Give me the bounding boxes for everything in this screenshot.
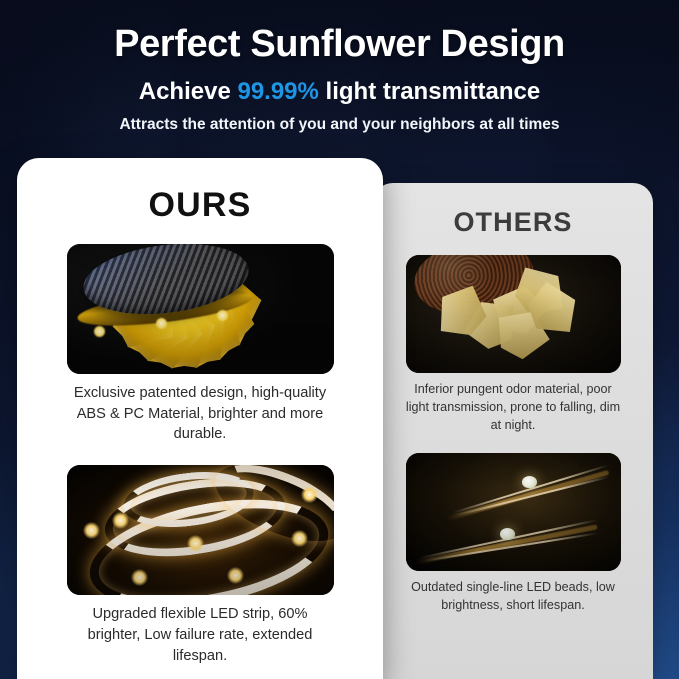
- ours-item-2: Upgraded flexible LED strip, 60% brighte…: [67, 465, 334, 666]
- led-strip-artwork: [67, 465, 334, 595]
- led-beads-artwork: [406, 453, 621, 571]
- transmittance-value: 99.99%: [237, 78, 318, 105]
- lamp-led-glow: [93, 325, 106, 338]
- infographic-root: Perfect Sunflower Design Achieve 99.99% …: [0, 0, 679, 679]
- strip-led-glow: [131, 569, 148, 586]
- led-bead: [522, 476, 537, 488]
- ours-caption-2: Upgraded flexible LED strip, 60% brighte…: [67, 604, 334, 666]
- lamp-led-glow: [216, 309, 229, 322]
- strip-led-glow: [291, 530, 308, 547]
- others-caption-1: Inferior pungent odor material, poor lig…: [406, 381, 621, 435]
- page-title: Perfect Sunflower Design: [0, 24, 679, 66]
- led-bead: [500, 528, 515, 540]
- ours-heading: OURS: [17, 158, 383, 225]
- strip-led-glow: [83, 522, 100, 539]
- ours-item-1: Exclusive patented design, high-quality …: [67, 244, 334, 445]
- subtitle-after: light transmittance: [319, 78, 540, 105]
- header-block: Perfect Sunflower Design Achieve 99.99% …: [0, 24, 679, 135]
- single-line-led-beads-photo: [406, 453, 621, 571]
- tagline: Attracts the attention of you and your n…: [0, 116, 679, 135]
- ours-caption-1: Exclusive patented design, high-quality …: [67, 383, 334, 445]
- strip-led-glow: [112, 512, 129, 529]
- sunflower-lamp-artwork: [67, 244, 334, 374]
- strip-led-glow: [227, 567, 244, 584]
- lamp-led-glow: [155, 317, 168, 330]
- dull-plastic-sunflower-photo: [406, 255, 621, 373]
- led-wire: [452, 464, 609, 514]
- others-heading: OTHERS: [373, 183, 653, 238]
- flexible-led-strip-photo: [67, 465, 334, 595]
- subtitle: Achieve 99.99% light transmittance: [0, 78, 679, 106]
- ours-panel: OURS: [17, 158, 383, 679]
- subtitle-before: Achieve: [139, 78, 238, 105]
- others-caption-2: Outdated single-line LED beads, low brig…: [406, 579, 621, 615]
- sunflower-solar-lamp-photo: [67, 244, 334, 374]
- dull-flower-artwork: [406, 255, 621, 373]
- others-item-2: Outdated single-line LED beads, low brig…: [406, 453, 621, 615]
- others-panel: OTHERS Inferior pungent odor material, p…: [373, 183, 653, 679]
- others-item-1: Inferior pungent odor material, poor lig…: [406, 255, 621, 435]
- strip-led-glow: [187, 535, 204, 552]
